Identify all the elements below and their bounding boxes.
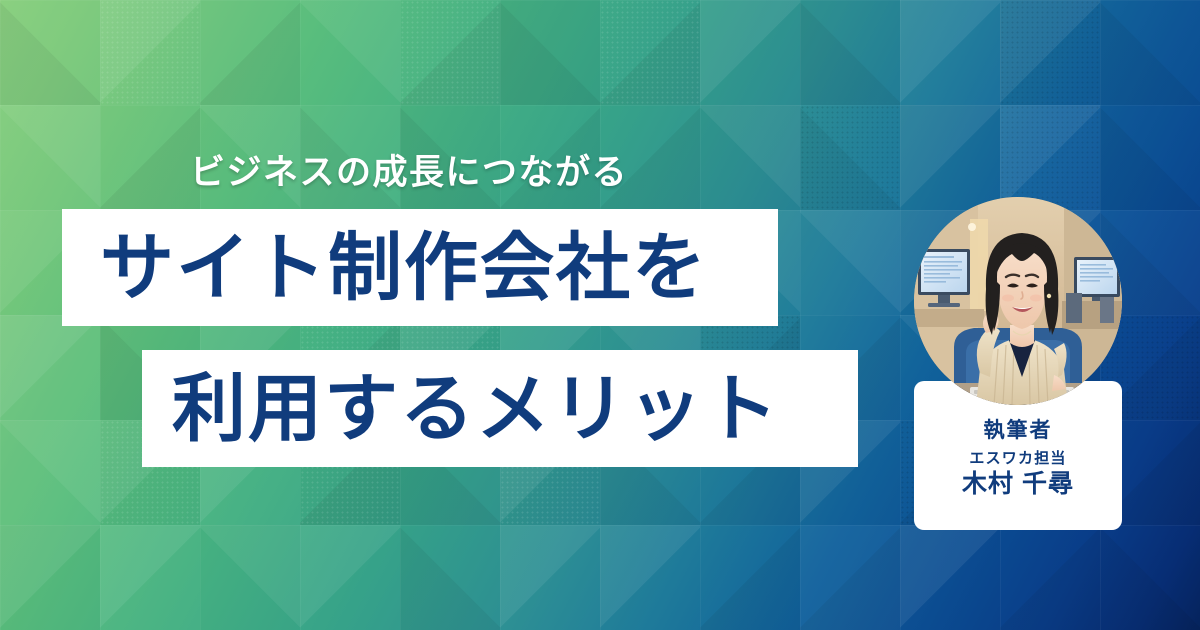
- banner-title-line-2: 利用するメリット: [172, 372, 780, 446]
- banner-title-line-1: サイト制作会社を: [100, 231, 708, 305]
- title-box-line-2: 利用するメリット: [142, 350, 858, 467]
- author-role: エスワカ担当: [914, 451, 1122, 468]
- title-box-line-1: サイト制作会社を: [62, 209, 778, 326]
- author-name: 木村 千尋: [914, 470, 1122, 499]
- promo-banner: ビジネスの成長につながる サイト制作会社を 利用するメリット 執筆者 エスワカ担…: [0, 0, 1200, 630]
- banner-subtitle: ビジネスの成長につながる: [190, 154, 628, 193]
- author-portrait-photo-icon: [914, 197, 1122, 405]
- author-label: 執筆者: [914, 419, 1122, 442]
